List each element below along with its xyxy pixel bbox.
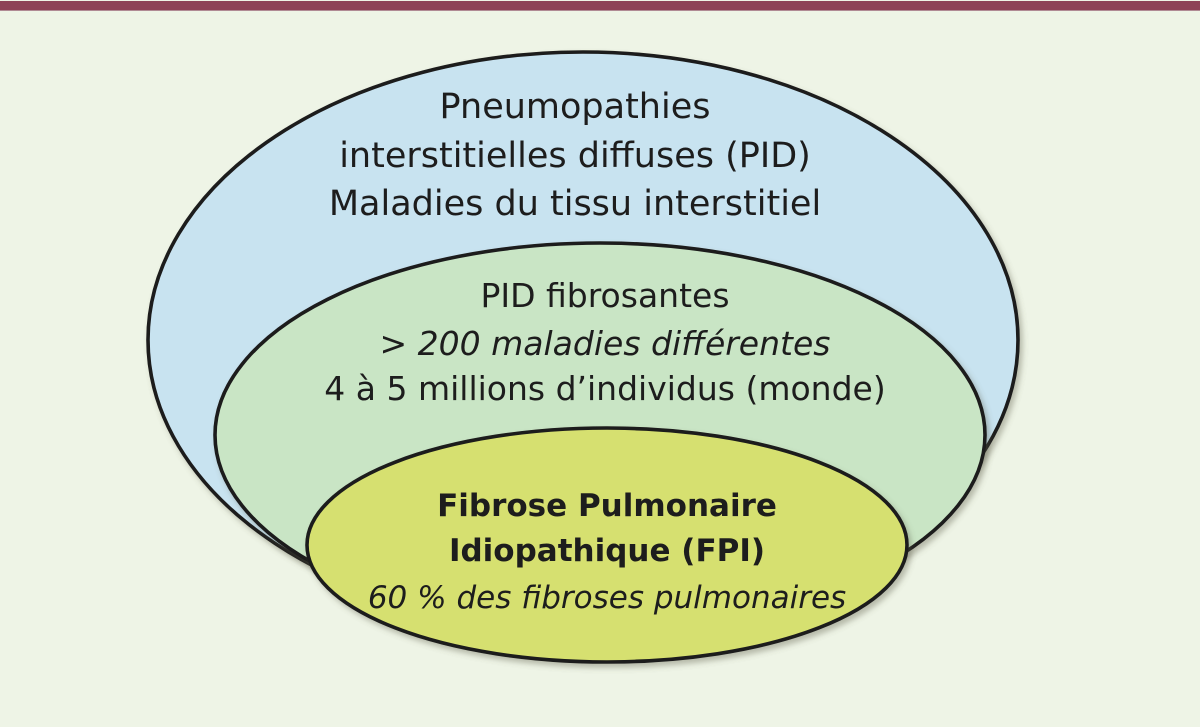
- outer-label-line3: Maladies du tissu interstitiel: [329, 184, 821, 224]
- inner-label-line1: Fibrose Pulmonaire: [437, 488, 777, 524]
- middle-label-line2: > 200 maladies différentes: [380, 324, 831, 363]
- nested-ellipse-diagram: Pneumopathies interstitielles diffuses (…: [0, 0, 1200, 727]
- middle-label-line3: 4 à 5 millions d’individus (monde): [324, 369, 885, 408]
- inner-label-line3: 60 % des fibroses pulmonaires: [368, 580, 846, 616]
- figure-root: Pneumopathies interstitielles diffuses (…: [0, 0, 1200, 727]
- outer-label-line1: Pneumopathies: [440, 87, 711, 127]
- inner-label-line2: Idiopathique (FPI): [449, 533, 765, 569]
- outer-label-line2: interstitielles diffuses (PID): [339, 136, 811, 176]
- middle-label-line1: PID fibrosantes: [480, 276, 729, 315]
